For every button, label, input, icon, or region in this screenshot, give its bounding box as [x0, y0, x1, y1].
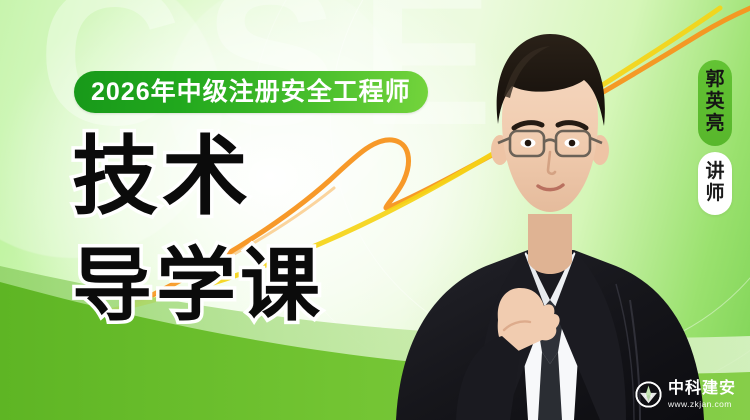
brand-text-block: 中科建安 www.zkjan.com [668, 381, 736, 409]
instructor-role-char-1: 讲 [705, 161, 724, 183]
instructor-role-badge: 讲 师 [698, 152, 732, 215]
headline-primary: 技术 [72, 134, 252, 220]
instructor-name-char-2: 英 [705, 91, 724, 113]
instructor-photo [378, 0, 708, 420]
course-banner: CSE 2026年中级注册安全工程师 技术 导学课 [0, 0, 750, 420]
instructor-name-badge: 郭 英 亮 [698, 60, 732, 146]
brand-logo: 中科建安 www.zkjan.com [635, 381, 736, 409]
course-title-text: 2026年中级注册安全工程师 [91, 80, 411, 105]
instructor-role-char-2: 师 [705, 183, 724, 205]
compass-star-icon [635, 381, 662, 408]
headline-secondary: 导学课 [72, 246, 324, 326]
course-title-pill: 2026年中级注册安全工程师 [74, 71, 428, 113]
instructor-name-char-3: 亮 [705, 113, 724, 135]
instructor-name-char-1: 郭 [705, 69, 724, 91]
brand-name: 中科建安 [668, 381, 736, 397]
brand-website: www.zkjan.com [668, 400, 736, 409]
